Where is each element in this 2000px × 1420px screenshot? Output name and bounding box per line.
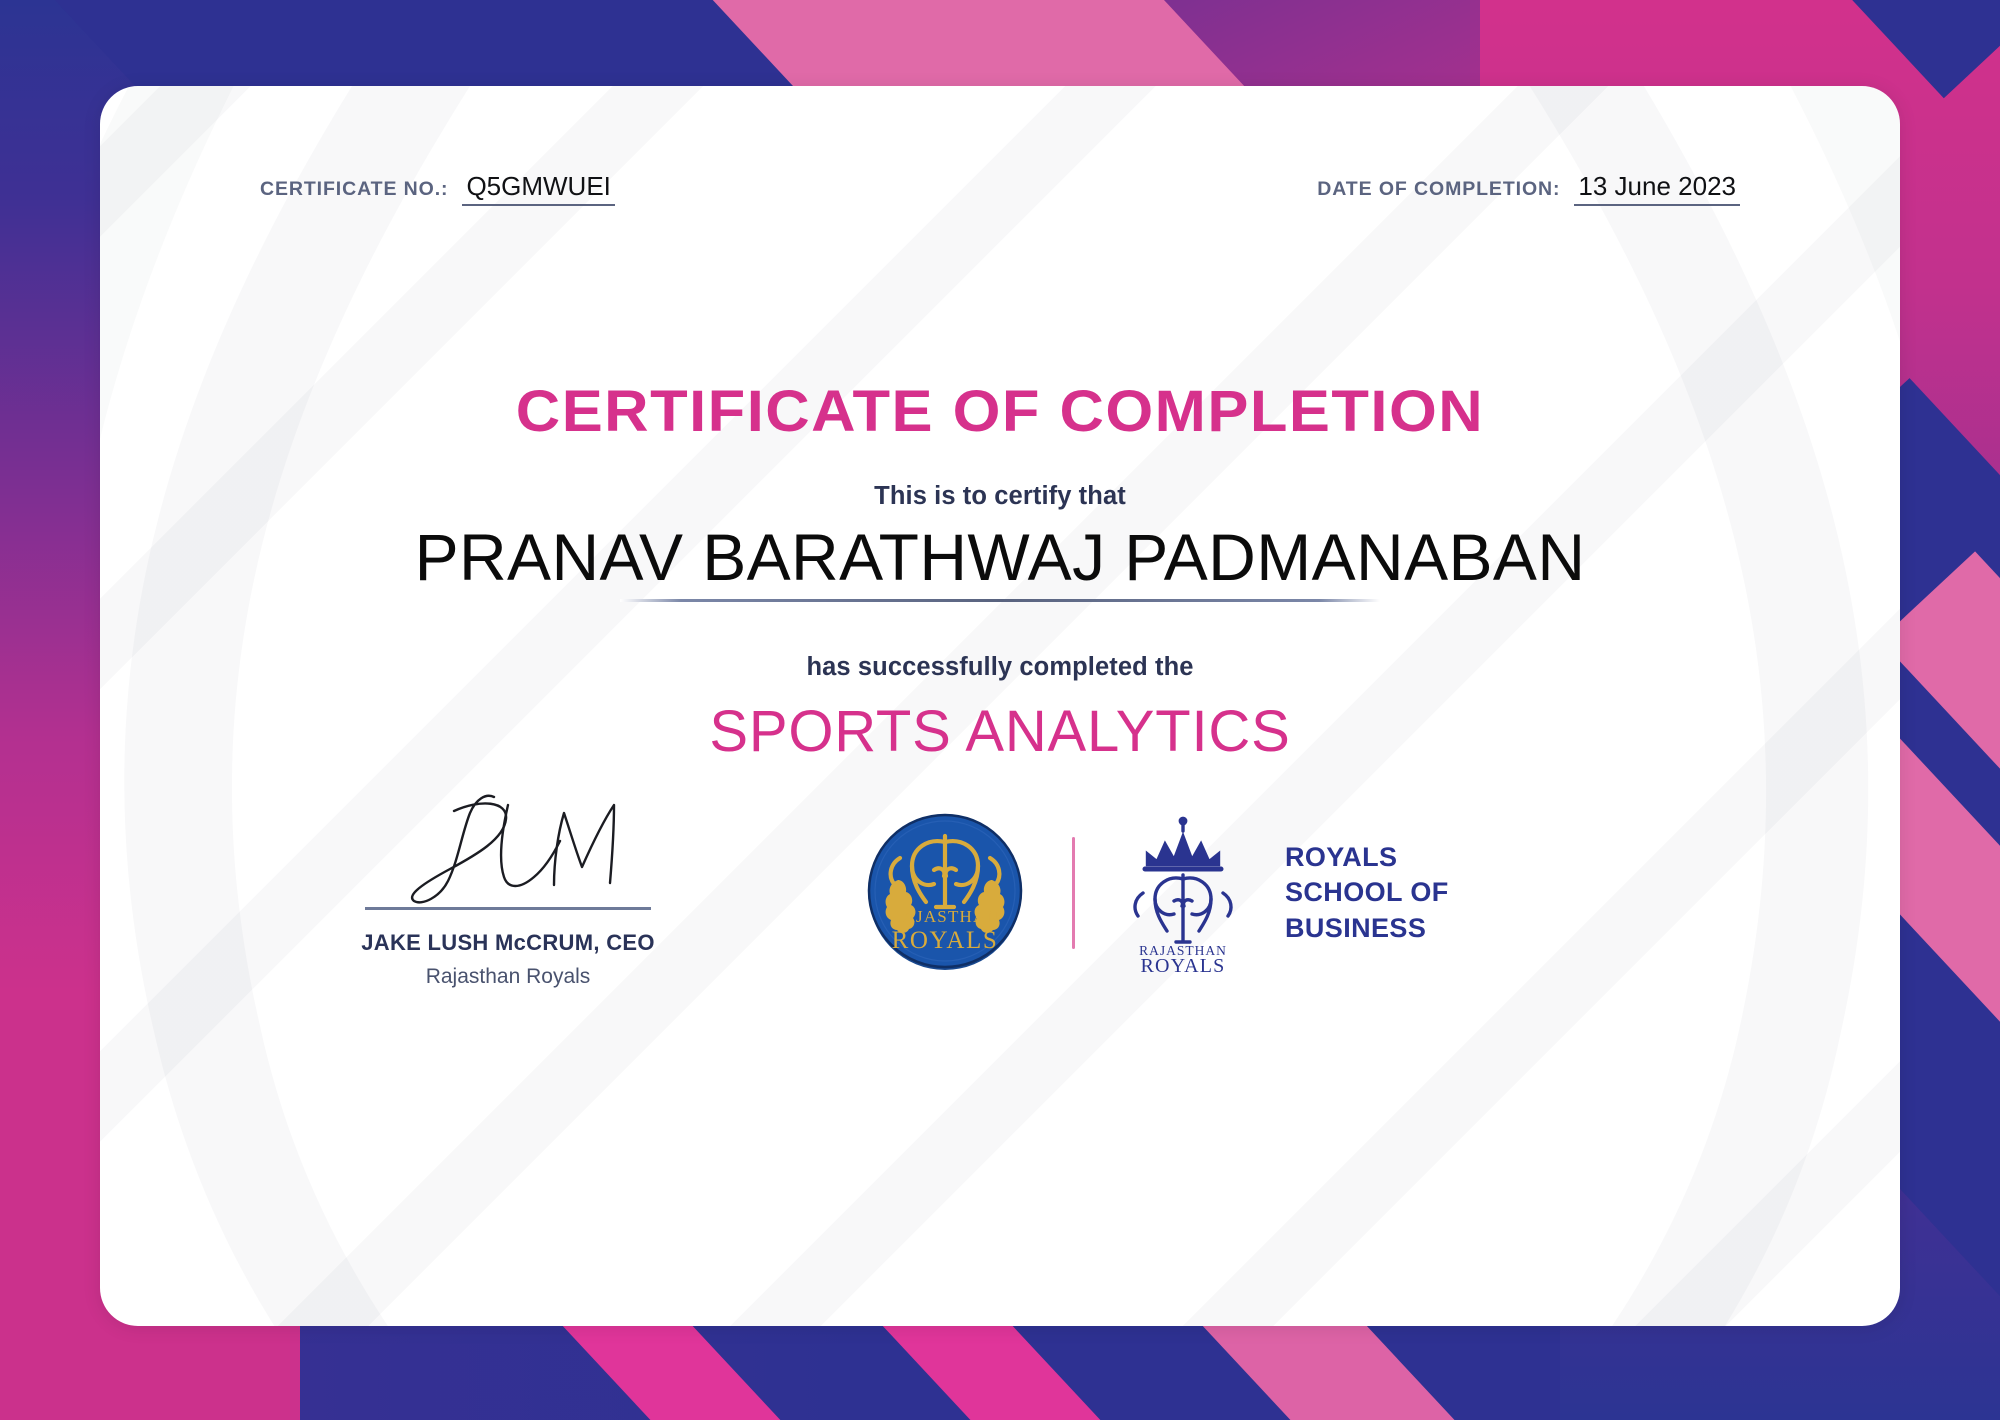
royals-school-of-business-lockup: RAJASTHAN ROYALS ROYALS SCHOOL OF BUSINE… [1117,813,1449,973]
signature-block: JAKE LUSH McCRUM, CEO Rajasthan Royals [338,789,678,989]
signatory-name: JAKE LUSH McCRUM, CEO [338,930,678,956]
certificate-number-group: CERTIFICATE NO.: Q5GMWUEI [260,172,615,206]
recipient-block: PRANAV BARATHWAJ PADMANABAN [100,523,1900,602]
certificate-title: CERTIFICATE OF COMPLETION [100,378,1900,445]
completed-line: has successfully completed the [100,653,1900,682]
certificate-number-label: CERTIFICATE NO.: [260,178,448,201]
royals-crest-icon: RAJASTHAN ROYALS [1117,813,1249,973]
crest-bottom-text: ROYALS [1141,955,1226,973]
certificate-meta-row: CERTIFICATE NO.: Q5GMWUEI DATE OF COMPLE… [100,172,1900,206]
recipient-underline [620,599,1380,602]
certificate-footer: JAKE LUSH McCRUM, CEO Rajasthan Royals [100,786,1900,1086]
certify-line: This is to certify that [100,482,1900,511]
completion-date-value: 13 June 2023 [1574,172,1740,206]
completion-date-label: DATE OF COMPLETION: [1317,178,1560,201]
certificate-number-value: Q5GMWUEI [462,172,614,206]
roundel-top-text: RAJASTHAN [890,907,1000,926]
signature-line [365,907,651,910]
signatory-organisation: Rajasthan Royals [338,965,678,989]
certificate-card: CERTIFICATE NO.: Q5GMWUEI DATE OF COMPLE… [100,86,1900,1326]
royals-school-of-business-wordmark: ROYALS SCHOOL OF BUSINESS [1285,840,1449,945]
logo-divider [1072,837,1075,949]
recipient-name: PRANAV BARATHWAJ PADMANABAN [415,523,1586,593]
signature-mark [338,789,678,907]
completion-date-group: DATE OF COMPLETION: 13 June 2023 [1317,172,1740,206]
decor-corner-bottom-left [0,1010,100,1420]
roundel-bottom-text: ROYALS [892,927,999,954]
handwritten-signature-icon [358,789,658,907]
rajasthan-royals-roundel-icon: RAJASTHAN ROYALS [860,808,1030,978]
rsb-line-2: SCHOOL OF [1285,875,1449,910]
footer-logos: RAJASTHAN ROYALS [860,808,1449,978]
course-name: SPORTS ANALYTICS [100,698,1900,765]
rsb-line-3: BUSINESS [1285,911,1449,946]
certificate-page: CERTIFICATE NO.: Q5GMWUEI DATE OF COMPLE… [0,0,2000,1420]
rsb-line-1: ROYALS [1285,840,1449,875]
